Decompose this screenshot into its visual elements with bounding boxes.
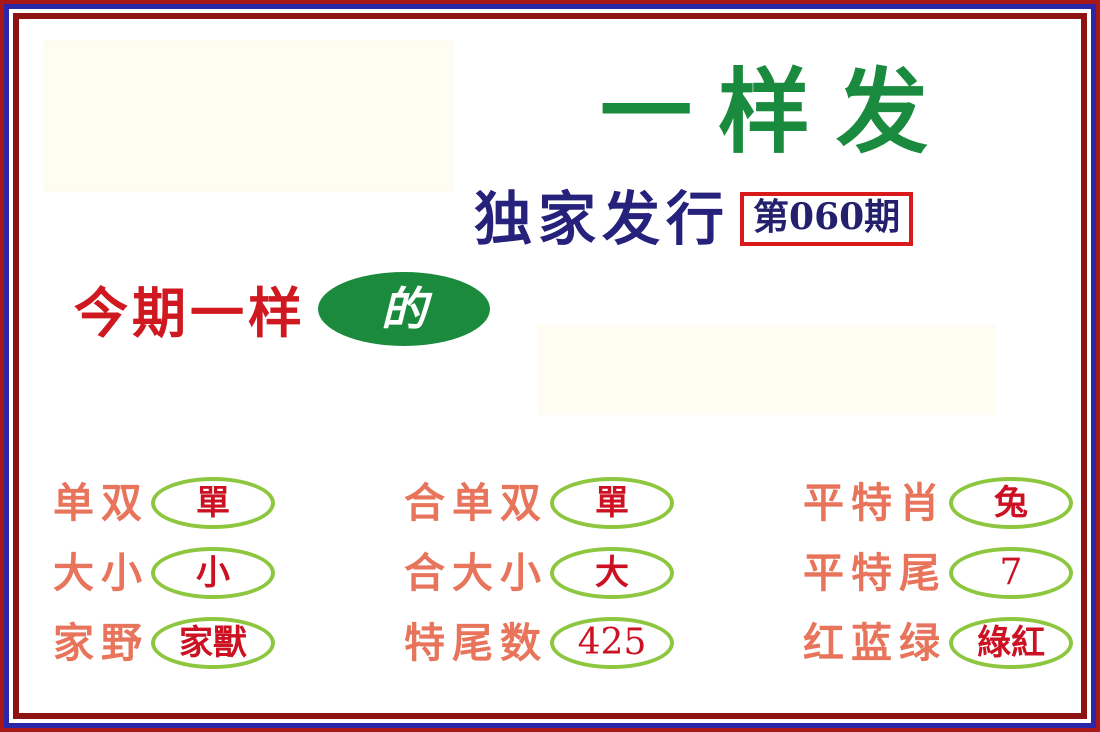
row-value-oval: 兔 [949, 477, 1073, 529]
prediction-grid: 单双 單 大小 小 [53, 474, 1073, 672]
row-label: 单双 [53, 483, 149, 524]
row-value: 綠紅 [977, 626, 1045, 660]
row-value-oval: 單 [151, 477, 275, 529]
row-label: 平特肖 [803, 483, 947, 524]
cream-placeholder-panel-left [44, 40, 454, 192]
row-label: 大小 [53, 553, 149, 594]
prediction-column-1: 单双 單 大小 小 [53, 474, 275, 672]
row-value: 425 [578, 625, 647, 661]
issue-number-badge: 第060期 [740, 192, 913, 246]
table-row: 红蓝绿 綠紅 [803, 614, 1073, 672]
row-value: 單 [595, 486, 629, 520]
row-value-oval: 綠紅 [949, 617, 1073, 669]
table-row: 特尾数 425 [404, 614, 674, 672]
row-value: 單 [196, 486, 230, 520]
table-row: 合大小 大 [404, 544, 674, 602]
prediction-column-3: 平特肖 兔 平特尾 7 [803, 474, 1073, 672]
poster-canvas: 一样发 独家发行 第060期 今期一样 的 [19, 19, 1081, 713]
row-label: 家野 [53, 623, 149, 664]
row-value-oval: 425 [550, 617, 674, 669]
masthead-subtitle: 独家发行 [474, 190, 730, 248]
row-label: 平特尾 [803, 553, 947, 594]
row-value: 兔 [994, 486, 1028, 520]
row-value: 大 [595, 556, 629, 590]
prediction-column-2: 合单双 單 合大小 大 [404, 474, 674, 672]
row-value-oval: 小 [151, 547, 275, 599]
row-label: 特尾数 [404, 623, 548, 664]
row-label: 合大小 [404, 553, 548, 594]
cream-placeholder-panel-right [538, 325, 995, 415]
row-value: 家獸 [179, 626, 247, 660]
row-value: 小 [196, 556, 230, 590]
row-value-oval: 7 [949, 547, 1073, 599]
slogan-highlight-ellipse: 的 [318, 272, 490, 346]
slogan-text: 今期一样 [74, 269, 306, 348]
poster-frame-inner: 一样发 独家发行 第060期 今期一样 的 [13, 13, 1087, 719]
poster-frame-blue: 一样发 独家发行 第060期 今期一样 的 [4, 4, 1096, 728]
slogan-row: 今期一样 的 [74, 269, 490, 348]
table-row: 单双 單 [53, 474, 275, 532]
masthead-subline: 独家发行 第060期 [474, 187, 1074, 251]
table-row: 家野 家獸 [53, 614, 275, 672]
table-row: 平特尾 7 [803, 544, 1073, 602]
table-row: 平特肖 兔 [803, 474, 1073, 532]
table-row: 大小 小 [53, 544, 275, 602]
poster-frame-white: 一样发 独家发行 第060期 今期一样 的 [9, 9, 1091, 723]
row-value-oval: 家獸 [151, 617, 275, 669]
row-label: 合单双 [404, 483, 548, 524]
row-value: 7 [1000, 555, 1023, 591]
row-value-oval: 單 [550, 477, 674, 529]
row-value-oval: 大 [550, 547, 674, 599]
table-row: 合单双 單 [404, 474, 674, 532]
slogan-highlight-char: 的 [381, 286, 427, 332]
poster-frame-outer: 一样发 独家发行 第060期 今期一样 的 [0, 0, 1100, 732]
row-label: 红蓝绿 [803, 623, 947, 664]
page-title: 一样发 [474, 67, 1054, 159]
